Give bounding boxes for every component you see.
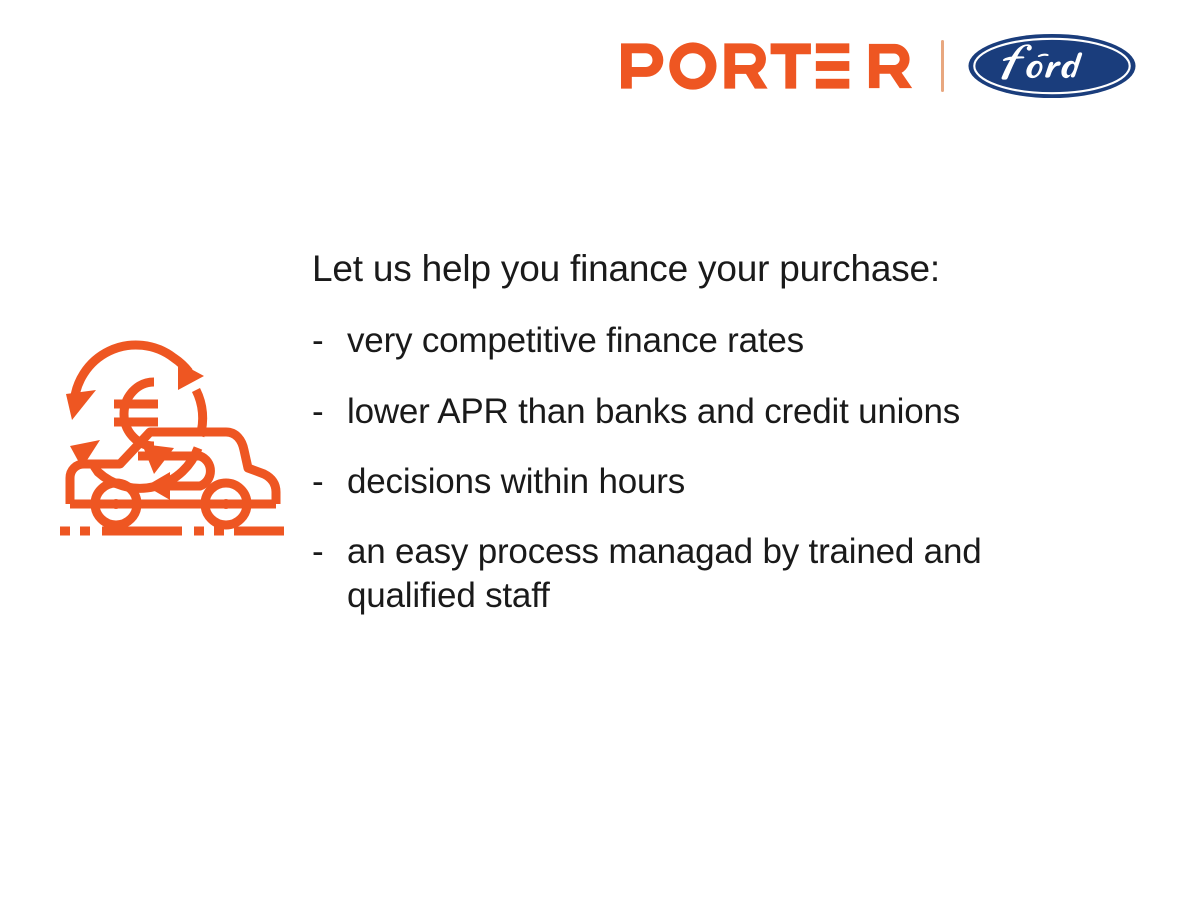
euro-car-finance-icon	[58, 328, 290, 563]
logo-divider	[941, 40, 944, 92]
ford-logo[interactable]	[966, 32, 1138, 100]
bullet-marker: -	[312, 390, 347, 434]
list-item: - lower APR than banks and credit unions	[312, 390, 1102, 434]
list-item-label: very competitive finance rates	[347, 319, 1102, 363]
finance-slide: Let us help you finance your purchase: -…	[0, 0, 1200, 900]
porter-logo[interactable]	[621, 42, 917, 90]
bullet-marker: -	[312, 530, 347, 574]
bullet-marker: -	[312, 319, 347, 363]
list-item: - an easy process managad by trained and…	[312, 530, 1102, 618]
list-item-label: decisions within hours	[347, 460, 1102, 504]
list-item-label: an easy process managad by trained and q…	[347, 530, 1102, 618]
finance-benefits-list: - very competitive finance rates - lower…	[312, 319, 1102, 617]
list-item: - decisions within hours	[312, 460, 1102, 504]
finance-content: Let us help you finance your purchase: -…	[312, 248, 1102, 618]
list-item: - very competitive finance rates	[312, 319, 1102, 363]
bullet-marker: -	[312, 460, 347, 504]
brand-logo-bar	[621, 28, 1138, 104]
list-item-label: lower APR than banks and credit unions	[347, 390, 1102, 434]
lead-heading: Let us help you finance your purchase:	[312, 248, 1102, 289]
